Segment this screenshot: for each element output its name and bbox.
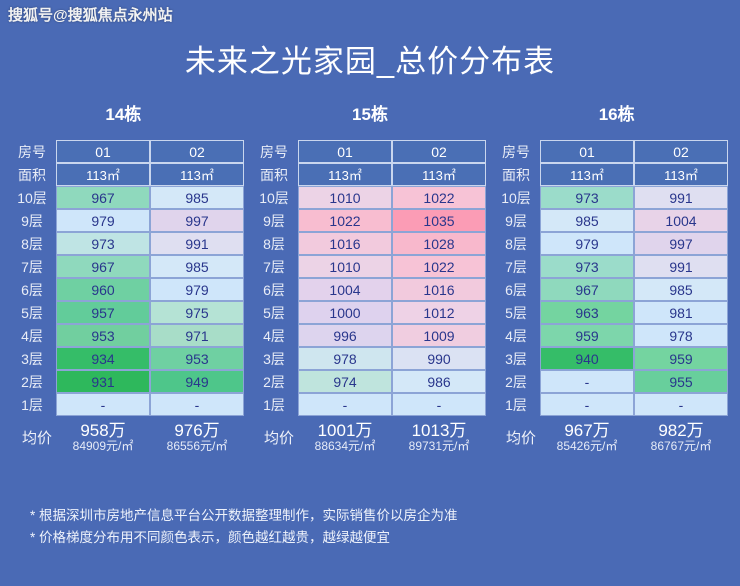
footnote-2: * 价格梯度分布用不同颜色表示，颜色越红越贵，越绿越便宜 (30, 527, 710, 549)
price-cell[interactable]: - (634, 393, 728, 416)
price-cell[interactable]: 1009 (392, 324, 486, 347)
floor-label-8层: 8层 (12, 232, 56, 255)
price-cell[interactable]: 1010 (298, 255, 392, 278)
price-grid: 房号0102面积113㎡113㎡10层9739919层98510048层9799… (496, 140, 728, 416)
price-cell[interactable]: 1022 (298, 209, 392, 232)
price-cell[interactable]: - (540, 393, 634, 416)
price-cell[interactable]: 985 (150, 186, 244, 209)
price-cell[interactable]: - (298, 393, 392, 416)
average-unit-price: 85426元/㎡ (540, 440, 634, 453)
price-cell[interactable]: 979 (540, 232, 634, 255)
area-header-2: 113㎡ (392, 163, 486, 186)
average-total: 976万 (150, 422, 244, 440)
table-row: 3层978990 (254, 347, 486, 370)
floor-label-10层: 10层 (12, 186, 56, 209)
price-cell[interactable]: 953 (56, 324, 150, 347)
room-row-label: 房号 (12, 140, 56, 163)
average-total: 967万 (540, 422, 634, 440)
table-row: 6层10041016 (254, 278, 486, 301)
floor-label-9层: 9层 (12, 209, 56, 232)
area-header-1: 113㎡ (540, 163, 634, 186)
price-cell[interactable]: 985 (150, 255, 244, 278)
area-header-1: 113㎡ (298, 163, 392, 186)
floor-label-6层: 6层 (12, 278, 56, 301)
price-cell[interactable]: 967 (56, 255, 150, 278)
price-cell[interactable]: 1000 (298, 301, 392, 324)
floor-label-10层: 10层 (496, 186, 540, 209)
floor-label-7层: 7层 (496, 255, 540, 278)
floor-label-4层: 4层 (12, 324, 56, 347)
floor-label-1层: 1层 (12, 393, 56, 416)
average-cells: 1001万88634元/㎡1013万89731元/㎡ (298, 422, 486, 452)
unit-header-01: 01 (298, 140, 392, 163)
price-table-14栋: 房号0102面积113㎡113㎡10层9679859层9799978层97399… (12, 140, 244, 452)
price-cell[interactable]: 990 (392, 347, 486, 370)
floor-label-7层: 7层 (12, 255, 56, 278)
price-cell[interactable]: 1035 (392, 209, 486, 232)
price-cell[interactable]: 975 (150, 301, 244, 324)
building-label-14: 14栋 (0, 100, 247, 130)
price-table-15栋: 房号0102面积113㎡113㎡10层101010229层102210358层1… (254, 140, 486, 452)
area-header-2: 113㎡ (150, 163, 244, 186)
price-cell[interactable]: 940 (540, 347, 634, 370)
price-cell[interactable]: 978 (298, 347, 392, 370)
price-cell[interactable]: 967 (56, 186, 150, 209)
price-cell[interactable]: 1004 (634, 209, 728, 232)
average-cells: 958万84909元/㎡976万86556元/㎡ (56, 422, 244, 452)
area-row-label: 面积 (12, 163, 56, 186)
table-row: 7层967985 (12, 255, 244, 278)
price-cell[interactable]: 1028 (392, 232, 486, 255)
floor-label-9层: 9层 (254, 209, 298, 232)
price-cell[interactable]: 971 (150, 324, 244, 347)
average-unit-price: 86767元/㎡ (634, 440, 728, 453)
table-row: 7层10101022 (254, 255, 486, 278)
average-cell: 958万84909元/㎡ (56, 422, 150, 452)
floor-label-6层: 6层 (254, 278, 298, 301)
average-label: 均价 (254, 427, 298, 448)
floor-label-4层: 4层 (254, 324, 298, 347)
table-row: 1层-- (496, 393, 728, 416)
table-row: 7层973991 (496, 255, 728, 278)
price-cell[interactable]: 991 (634, 186, 728, 209)
table-row: 4层953971 (12, 324, 244, 347)
unit-header-02: 02 (392, 140, 486, 163)
price-grid: 房号0102面积113㎡113㎡10层9679859层9799978层97399… (12, 140, 244, 416)
table-row: 2层931949 (12, 370, 244, 393)
price-cell[interactable]: 979 (56, 209, 150, 232)
table-row: 3层940959 (496, 347, 728, 370)
floor-label-9层: 9层 (496, 209, 540, 232)
page-title: 未来之光家园_总价分布表 (0, 36, 740, 81)
table-row: 8层979997 (496, 232, 728, 255)
price-cell[interactable]: - (540, 370, 634, 393)
unit-header-01: 01 (540, 140, 634, 163)
table-row: 2层974986 (254, 370, 486, 393)
unit-header-02: 02 (634, 140, 728, 163)
average-cell: 1013万89731元/㎡ (392, 422, 486, 452)
price-cell[interactable]: 997 (634, 232, 728, 255)
price-cell[interactable]: 953 (150, 347, 244, 370)
area-row-label: 面积 (254, 163, 298, 186)
price-cell[interactable]: 1022 (392, 255, 486, 278)
table-row: 9层10221035 (254, 209, 486, 232)
average-row: 均价967万85426元/㎡982万86767元/㎡ (496, 422, 728, 452)
price-cell[interactable]: 967 (540, 278, 634, 301)
price-cell[interactable]: - (392, 393, 486, 416)
floor-label-3层: 3层 (12, 347, 56, 370)
price-grid: 房号0102面积113㎡113㎡10层101010229层102210358层1… (254, 140, 486, 416)
floor-label-1层: 1层 (254, 393, 298, 416)
room-row-label: 房号 (254, 140, 298, 163)
price-cell[interactable]: 973 (540, 255, 634, 278)
price-cell[interactable]: 973 (56, 232, 150, 255)
price-cell[interactable]: 981 (634, 301, 728, 324)
table-row: 2层-955 (496, 370, 728, 393)
area-header-2: 113㎡ (634, 163, 728, 186)
price-cell[interactable]: 991 (150, 232, 244, 255)
price-cell[interactable]: 1016 (298, 232, 392, 255)
price-cell[interactable]: 985 (634, 278, 728, 301)
price-cell[interactable]: 1016 (392, 278, 486, 301)
average-cell: 1001万88634元/㎡ (298, 422, 392, 452)
area-header-1: 113㎡ (56, 163, 150, 186)
price-cell[interactable]: - (150, 393, 244, 416)
floor-label-2层: 2层 (496, 370, 540, 393)
floor-label-2层: 2层 (254, 370, 298, 393)
table-row: 6层967985 (496, 278, 728, 301)
floor-label-10层: 10层 (254, 186, 298, 209)
average-cells: 967万85426元/㎡982万86767元/㎡ (540, 422, 728, 452)
area-row-label: 面积 (496, 163, 540, 186)
floor-label-7层: 7层 (254, 255, 298, 278)
average-cell: 967万85426元/㎡ (540, 422, 634, 452)
floor-label-6层: 6层 (496, 278, 540, 301)
price-cell[interactable]: 959 (634, 347, 728, 370)
table-row: 10层967985 (12, 186, 244, 209)
price-cell[interactable]: 960 (56, 278, 150, 301)
average-total: 1013万 (392, 422, 486, 440)
table-row: 9层9851004 (496, 209, 728, 232)
average-cell: 982万86767元/㎡ (634, 422, 728, 452)
header-row-area: 面积113㎡113㎡ (12, 163, 244, 186)
room-row-label: 房号 (496, 140, 540, 163)
price-cell[interactable]: 979 (150, 278, 244, 301)
floor-label-4层: 4层 (496, 324, 540, 347)
floor-label-3层: 3层 (496, 347, 540, 370)
price-cell[interactable]: 991 (634, 255, 728, 278)
average-cell: 976万86556元/㎡ (150, 422, 244, 452)
header-row-area: 面积113㎡113㎡ (254, 163, 486, 186)
average-unit-price: 84909元/㎡ (56, 440, 150, 453)
table-row: 6层960979 (12, 278, 244, 301)
price-cell[interactable]: 1010 (298, 186, 392, 209)
floor-label-5层: 5层 (12, 301, 56, 324)
average-total: 1001万 (298, 422, 392, 440)
table-row: 8层973991 (12, 232, 244, 255)
price-cell[interactable]: 974 (298, 370, 392, 393)
price-cell[interactable]: 955 (634, 370, 728, 393)
floor-label-8层: 8层 (254, 232, 298, 255)
price-cell[interactable]: 1012 (392, 301, 486, 324)
price-cell[interactable]: 931 (56, 370, 150, 393)
table-row: 8层10161028 (254, 232, 486, 255)
table-row: 4层9961009 (254, 324, 486, 347)
unit-header-02: 02 (150, 140, 244, 163)
floor-label-5层: 5层 (496, 301, 540, 324)
table-row: 9层979997 (12, 209, 244, 232)
price-cell[interactable]: 997 (150, 209, 244, 232)
average-unit-price: 89731元/㎡ (392, 440, 486, 453)
footnote-1: * 根据深圳市房地产信息平台公开数据整理制作，实际销售价以房企为准 (30, 505, 710, 527)
header-row-room: 房号0102 (496, 140, 728, 163)
price-cell[interactable]: 963 (540, 301, 634, 324)
average-row: 均价958万84909元/㎡976万86556元/㎡ (12, 422, 244, 452)
price-cell[interactable]: 985 (540, 209, 634, 232)
header-row-room: 房号0102 (254, 140, 486, 163)
price-cell[interactable]: 1022 (392, 186, 486, 209)
floor-label-3层: 3层 (254, 347, 298, 370)
building-label-row: 14栋 15栋 16栋 (0, 100, 740, 130)
table-row: 1层-- (12, 393, 244, 416)
price-cell[interactable]: 959 (540, 324, 634, 347)
table-row: 5层10001012 (254, 301, 486, 324)
price-cell[interactable]: 957 (56, 301, 150, 324)
average-label: 均价 (12, 427, 56, 448)
average-total: 982万 (634, 422, 728, 440)
average-label: 均价 (496, 427, 540, 448)
average-unit-price: 86556元/㎡ (150, 440, 244, 453)
building-label-15: 15栋 (247, 100, 494, 130)
price-cell[interactable]: 949 (150, 370, 244, 393)
average-total: 958万 (56, 422, 150, 440)
price-cell[interactable]: - (56, 393, 150, 416)
table-row: 5层963981 (496, 301, 728, 324)
floor-label-2层: 2层 (12, 370, 56, 393)
price-cell[interactable]: 978 (634, 324, 728, 347)
floor-label-5层: 5层 (254, 301, 298, 324)
header-row-room: 房号0102 (12, 140, 244, 163)
header-row-area: 面积113㎡113㎡ (496, 163, 728, 186)
average-row: 均价1001万88634元/㎡1013万89731元/㎡ (254, 422, 486, 452)
table-row: 4层959978 (496, 324, 728, 347)
footnotes: * 根据深圳市房地产信息平台公开数据整理制作，实际销售价以房企为准 * 价格梯度… (0, 505, 740, 549)
table-row: 10层10101022 (254, 186, 486, 209)
floor-label-1层: 1层 (496, 393, 540, 416)
price-cell[interactable]: 1004 (298, 278, 392, 301)
table-row: 3层934953 (12, 347, 244, 370)
floor-label-8层: 8层 (496, 232, 540, 255)
watermark-text: 搜狐号@搜狐焦点永州站 (8, 4, 173, 25)
building-label-16: 16栋 (493, 100, 740, 130)
table-row: 5层957975 (12, 301, 244, 324)
price-cell[interactable]: 986 (392, 370, 486, 393)
price-cell[interactable]: 973 (540, 186, 634, 209)
table-row: 10层973991 (496, 186, 728, 209)
price-cell[interactable]: 934 (56, 347, 150, 370)
price-cell[interactable]: 996 (298, 324, 392, 347)
average-unit-price: 88634元/㎡ (298, 440, 392, 453)
unit-header-01: 01 (56, 140, 150, 163)
price-tables-container: 房号0102面积113㎡113㎡10层9679859层9799978层97399… (0, 140, 740, 452)
price-table-16栋: 房号0102面积113㎡113㎡10层9739919层98510048层9799… (496, 140, 728, 452)
table-row: 1层-- (254, 393, 486, 416)
